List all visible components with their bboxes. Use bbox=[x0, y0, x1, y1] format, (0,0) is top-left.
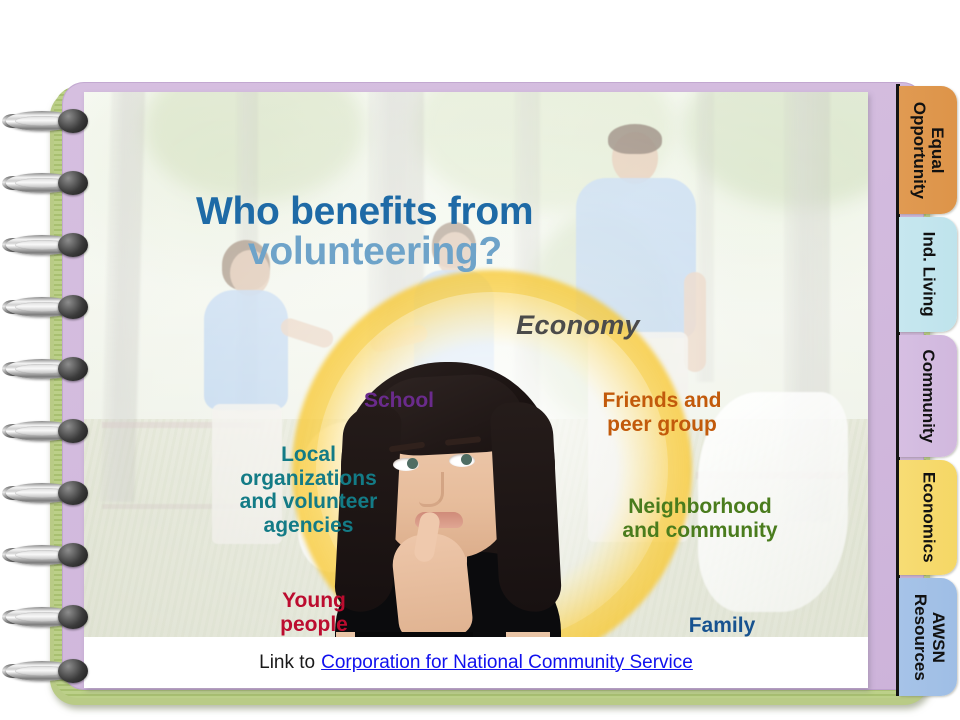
spiral-ring bbox=[2, 106, 90, 136]
diagram-label-friends: Friends and peer group bbox=[562, 389, 762, 436]
notebook-content-page: Who benefits from volunteering? Economy … bbox=[84, 92, 868, 688]
tab-awsn-resources[interactable]: AWSN Resources bbox=[899, 578, 957, 696]
spiral-ring bbox=[2, 292, 90, 322]
tab-economics[interactable]: Economics bbox=[899, 460, 957, 575]
spiral-ring bbox=[2, 416, 90, 446]
headline-line-1: Who benefits from bbox=[196, 192, 533, 231]
headline-line-2: volunteering? bbox=[248, 231, 533, 272]
link-prefix-text: Link to bbox=[259, 652, 315, 674]
tab-ind-living[interactable]: Ind. Living bbox=[899, 217, 957, 332]
poster-headline: Who benefits from volunteering? bbox=[196, 192, 533, 272]
spiral-ring bbox=[2, 230, 90, 260]
tab-economics-label: Economics bbox=[919, 472, 937, 563]
spiral-ring bbox=[2, 478, 90, 508]
spiral-binding bbox=[2, 100, 98, 680]
spiral-ring bbox=[2, 656, 90, 686]
tab-ind-living-label: Ind. Living bbox=[919, 232, 937, 317]
diagram-label-school: School bbox=[334, 389, 464, 413]
diagram-label-family: Family bbox=[662, 614, 782, 637]
spiral-ring bbox=[2, 540, 90, 570]
tab-equal-opportunity-label: Equal Opportunity bbox=[910, 101, 947, 198]
tab-community-label: Community bbox=[919, 349, 937, 443]
spiral-ring bbox=[2, 602, 90, 632]
link-caption-bar: Link to Corporation for National Communi… bbox=[84, 637, 868, 688]
diagram-label-economy: Economy bbox=[488, 310, 668, 340]
diagram-label-neighborhood: Neighborhood and community bbox=[590, 495, 810, 542]
volunteering-poster-image: Who benefits from volunteering? Economy … bbox=[84, 92, 868, 637]
slide-canvas: Who benefits from volunteering? Economy … bbox=[0, 0, 960, 720]
tab-community[interactable]: Community bbox=[899, 335, 957, 457]
diagram-label-local-orgs: Local organizations and volunteer agenci… bbox=[206, 443, 411, 537]
spiral-ring bbox=[2, 168, 90, 198]
tab-awsn-resources-label: AWSN Resources bbox=[910, 594, 947, 681]
tab-equal-opportunity[interactable]: Equal Opportunity bbox=[899, 86, 957, 214]
spiral-ring bbox=[2, 354, 90, 384]
diagram-label-young-people: Young people bbox=[244, 589, 384, 636]
corporation-national-community-service-link[interactable]: Corporation for National Community Servi… bbox=[321, 652, 693, 674]
